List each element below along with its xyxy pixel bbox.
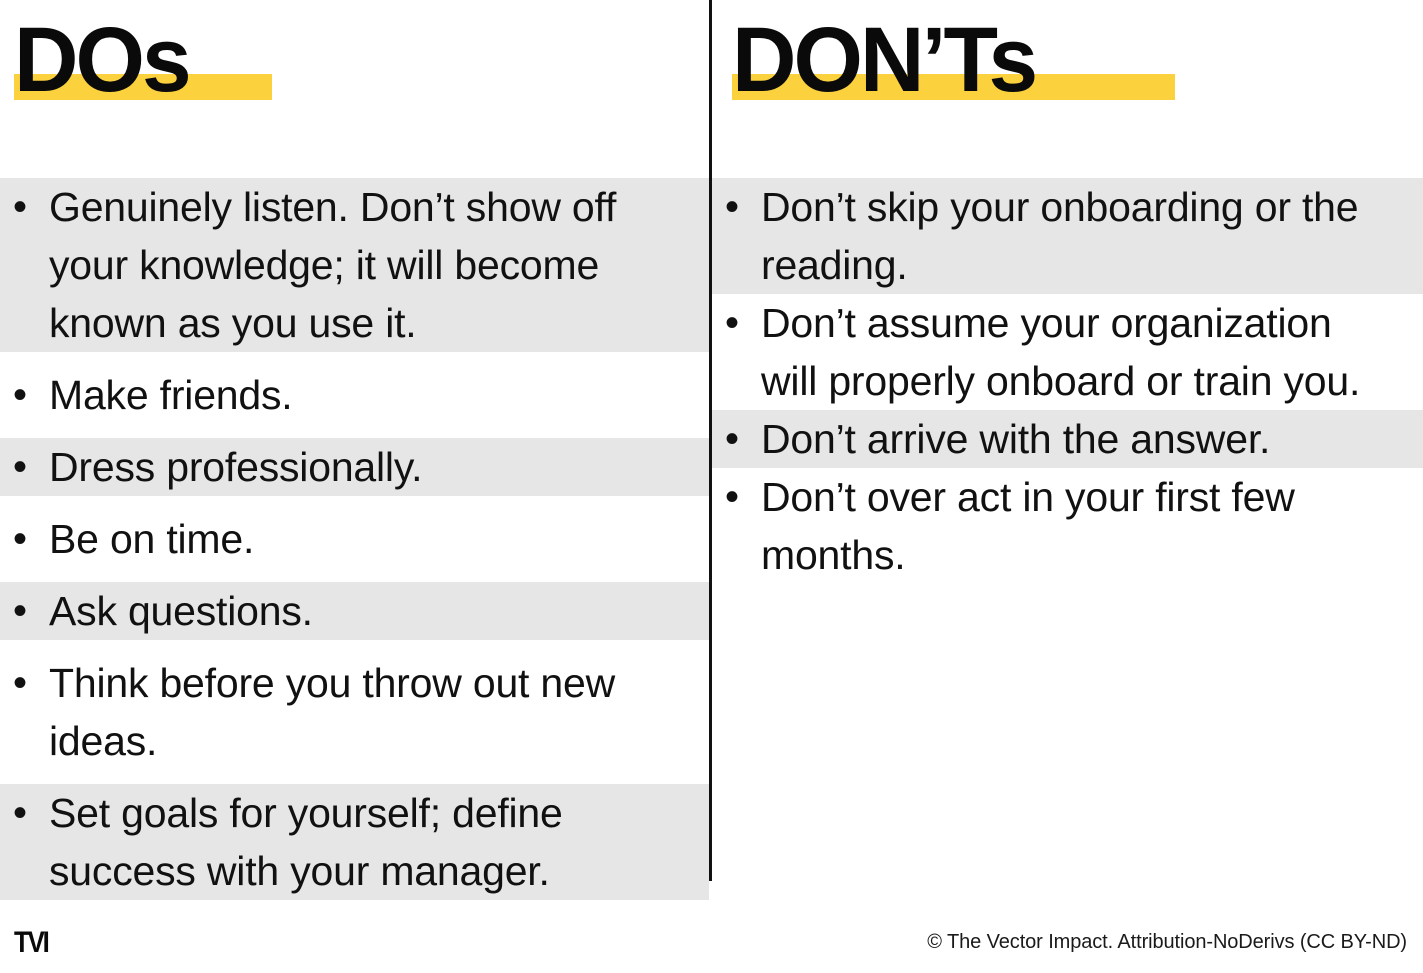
list-item: • Don’t over act in your first few month… xyxy=(712,468,1423,584)
bullet-icon: • xyxy=(725,294,761,352)
list-item-text: Don’t arrive with the answer. xyxy=(761,410,1405,468)
list-item: • Genuinely listen. Don’t show off your … xyxy=(0,178,709,352)
bullet-icon: • xyxy=(13,582,49,640)
dos-heading-block: DOs xyxy=(14,14,194,106)
list-item-text: Make friends. xyxy=(49,366,693,424)
donts-heading-block: DON’Ts xyxy=(732,14,1045,106)
slide-canvas: DOs • Genuinely listen. Don’t show off y… xyxy=(0,0,1423,973)
dos-list: • Genuinely listen. Don’t show off your … xyxy=(0,178,709,900)
list-item: • Set goals for yourself; define success… xyxy=(0,784,709,900)
list-item-text: Dress professionally. xyxy=(49,438,693,496)
list-item: • Don’t assume your organization will pr… xyxy=(712,294,1423,410)
bullet-icon: • xyxy=(13,784,49,842)
bullet-icon: • xyxy=(725,410,761,468)
bullet-icon: • xyxy=(13,178,49,236)
bullet-icon: • xyxy=(13,438,49,496)
list-gap xyxy=(0,424,709,438)
list-gap xyxy=(0,640,709,654)
bullet-icon: • xyxy=(725,468,761,526)
list-item-text: Be on time. xyxy=(49,510,693,568)
list-item: • Dress professionally. xyxy=(0,438,709,496)
list-item: • Be on time. xyxy=(0,510,709,568)
bullet-icon: • xyxy=(13,366,49,424)
list-item-text: Ask questions. xyxy=(49,582,693,640)
bullet-icon: • xyxy=(13,510,49,568)
bullet-icon: • xyxy=(13,654,49,712)
dos-heading: DOs xyxy=(14,14,189,106)
list-gap xyxy=(0,770,709,784)
list-item: • Don’t skip your onboarding or the read… xyxy=(712,178,1423,294)
list-gap xyxy=(0,352,709,366)
the-vector-impact-logo: TVI xyxy=(14,928,48,958)
list-item-text: Genuinely listen. Don’t show off your kn… xyxy=(49,178,693,352)
list-item-text: Think before you throw out new ideas. xyxy=(49,654,693,770)
list-item: • Don’t arrive with the answer. xyxy=(712,410,1423,468)
list-gap xyxy=(0,496,709,510)
copyright-credit: © The Vector Impact. Attribution-NoDeriv… xyxy=(927,930,1407,954)
list-item-text: Don’t skip your onboarding or the readin… xyxy=(761,178,1405,294)
donts-heading: DON’Ts xyxy=(732,14,1035,106)
list-item-text: Don’t over act in your first few months. xyxy=(761,468,1405,584)
list-item-text: Don’t assume your organization will prop… xyxy=(761,294,1405,410)
list-item: • Think before you throw out new ideas. xyxy=(0,654,709,770)
list-item: • Ask questions. xyxy=(0,582,709,640)
donts-list: • Don’t skip your onboarding or the read… xyxy=(712,178,1423,584)
bullet-icon: • xyxy=(725,178,761,236)
list-item-text: Set goals for yourself; define success w… xyxy=(49,784,693,900)
list-gap xyxy=(0,568,709,582)
list-item: • Make friends. xyxy=(0,366,709,424)
